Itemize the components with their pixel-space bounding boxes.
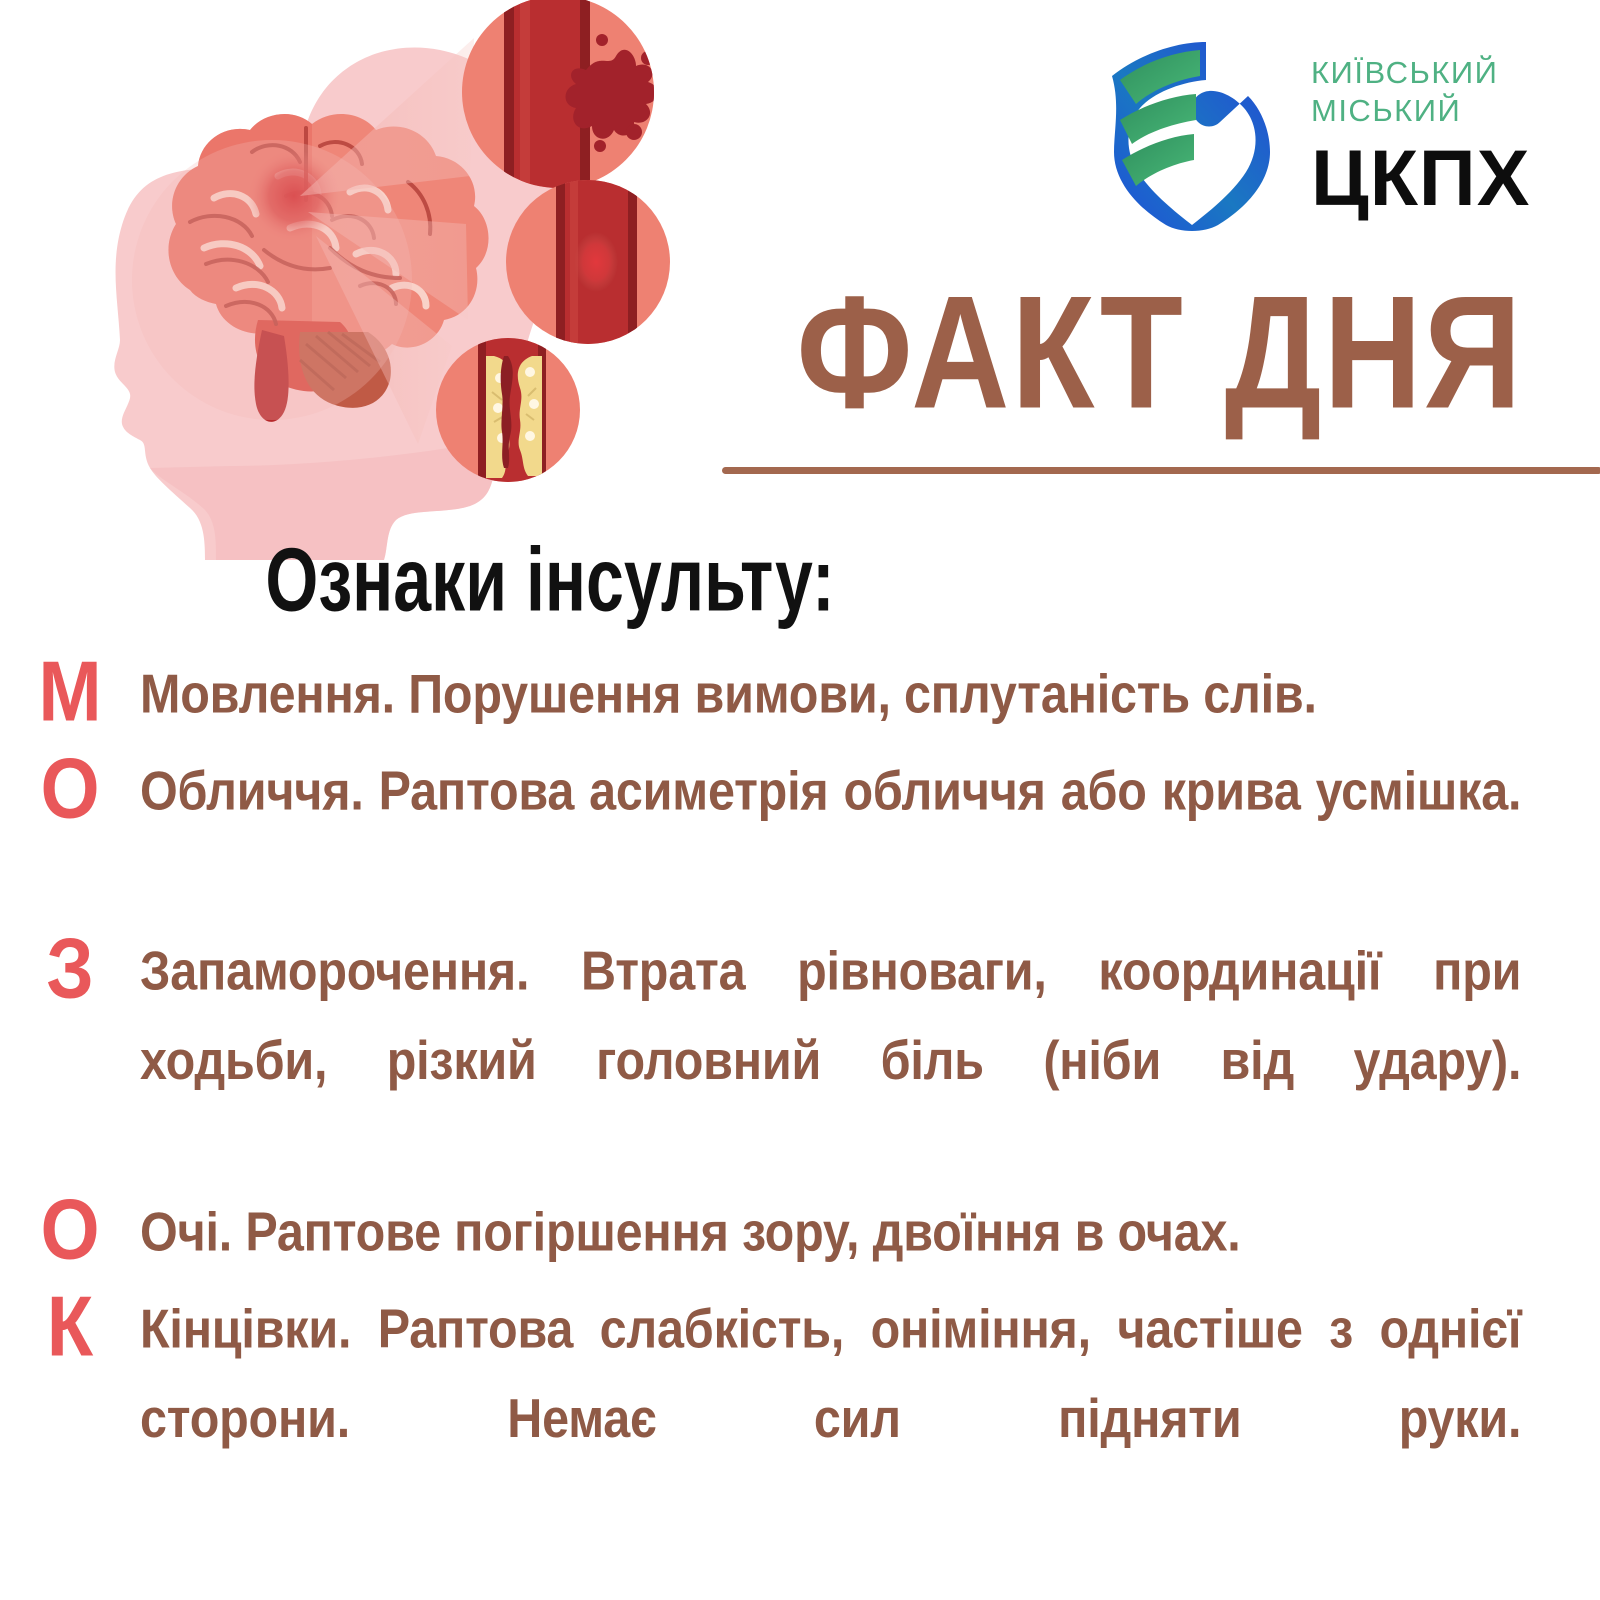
list-item: О Обличчя. Раптова асиметрія обличчя або…: [0, 747, 1600, 909]
sign-letter: О: [0, 1188, 140, 1273]
sign-letter: М: [0, 650, 140, 735]
sign-text: Запаморочення. Втрата рівноваги, координ…: [140, 927, 1556, 1194]
list-item: О Очі. Раптове погіршення зору, двоїння …: [0, 1188, 1600, 1269]
sign-letter: З: [0, 927, 140, 1012]
sign-text: Кінцівки. Раптова слабкість, оніміння, ч…: [140, 1285, 1556, 1552]
poster-canvas: КИЇВСЬКИЙ МІСЬКИЙ ЦКПХ ФАКТ ДНЯ Ознаки і…: [0, 0, 1600, 1600]
list-item: М Мовлення. Порушення вимови, сплутаніст…: [0, 650, 1600, 731]
sign-text: Мовлення. Порушення вимови, сплутаність …: [140, 650, 1556, 739]
shield-heart-icon: [1100, 36, 1285, 231]
logo-line-2: МІСЬКИЙ: [1311, 92, 1530, 130]
logo: КИЇВСЬКИЙ МІСЬКИЙ ЦКПХ: [1100, 28, 1580, 238]
list-item: З Запаморочення. Втрата рівноваги, коорд…: [0, 927, 1600, 1170]
subheading: Ознаки інсульту:: [44, 527, 1056, 632]
logo-abbreviation: ЦКПХ: [1311, 138, 1530, 219]
signs-list: М Мовлення. Порушення вимови, сплутаніст…: [0, 650, 1600, 1528]
sign-letter: К: [0, 1285, 140, 1370]
sign-text: Обличчя. Раптова асиметрія обличчя або к…: [140, 747, 1556, 925]
page-title: ФАКТ ДНЯ: [720, 258, 1600, 447]
title-divider: [722, 467, 1600, 474]
sign-text: Очі. Раптове погіршення зору, двоїння в …: [140, 1188, 1556, 1277]
stroke-brain-illustration: [0, 0, 700, 560]
logo-line-1: КИЇВСЬКИЙ: [1311, 54, 1530, 92]
sign-letter: О: [0, 747, 140, 832]
list-item: К Кінцівки. Раптова слабкість, оніміння,…: [0, 1285, 1600, 1528]
